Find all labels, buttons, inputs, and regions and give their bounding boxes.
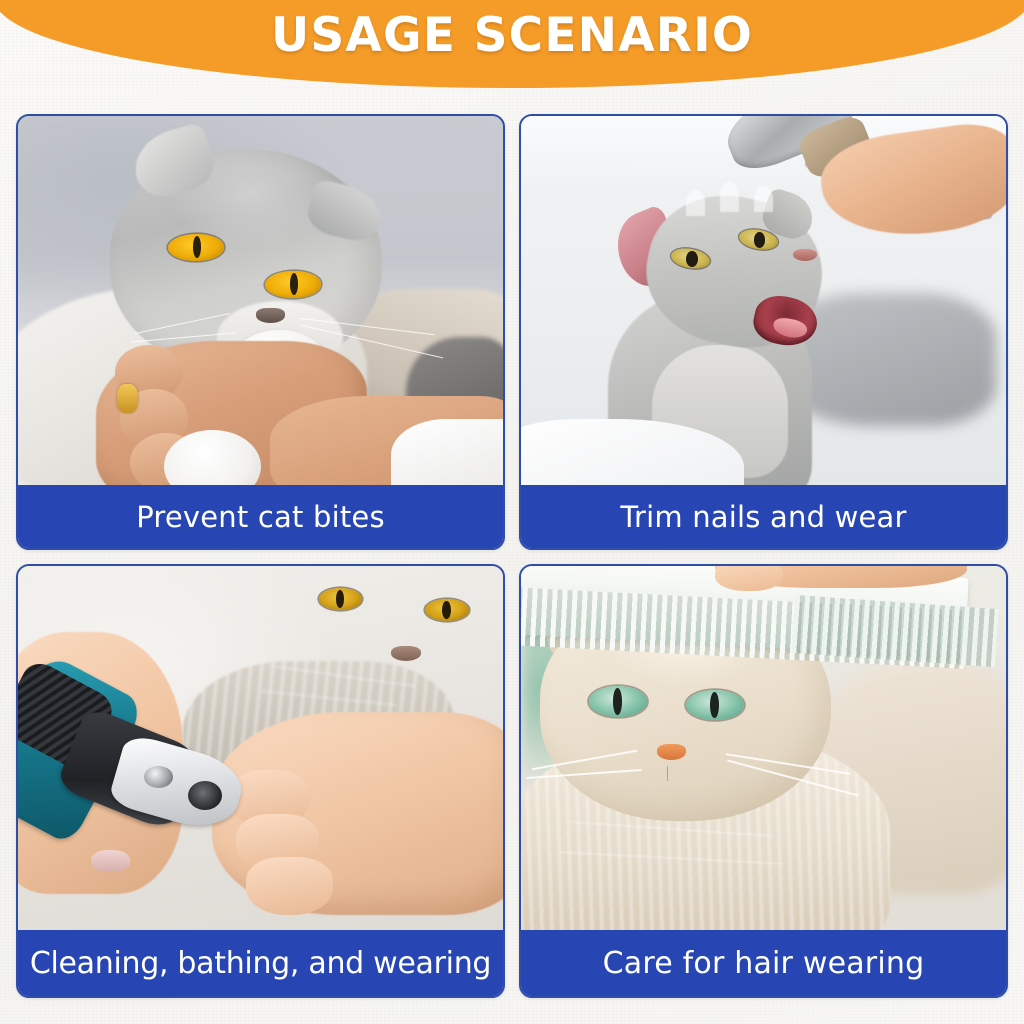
- caption-prevent-cat-bites: Prevent cat bites: [18, 485, 503, 548]
- scenario-card-trim-nails-and-wear[interactable]: Trim nails and wear: [519, 114, 1008, 550]
- scenario-card-prevent-cat-bites[interactable]: Prevent cat bites: [16, 114, 505, 550]
- photo-prevent-cat-bites: [18, 116, 503, 485]
- scenario-card-care-for-hair-wearing[interactable]: Care for hair wearing: [519, 564, 1008, 998]
- caption-trim-nails-and-wear: Trim nails and wear: [521, 485, 1006, 548]
- caption-cleaning-bathing-and-wearing: Cleaning, bathing, and wearing: [18, 930, 503, 996]
- photo-trim-nails-and-wear: [521, 116, 1006, 485]
- photo-cleaning-bathing-and-wearing: [18, 566, 503, 930]
- usage-scenario-grid: Prevent cat bites Trim nails: [16, 114, 1008, 998]
- page-title: USAGE SCENARIO: [0, 8, 1024, 63]
- caption-care-for-hair-wearing: Care for hair wearing: [521, 930, 1006, 996]
- scenario-card-cleaning-bathing-and-wearing[interactable]: Cleaning, bathing, and wearing: [16, 564, 505, 998]
- photo-care-for-hair-wearing: [521, 566, 1006, 930]
